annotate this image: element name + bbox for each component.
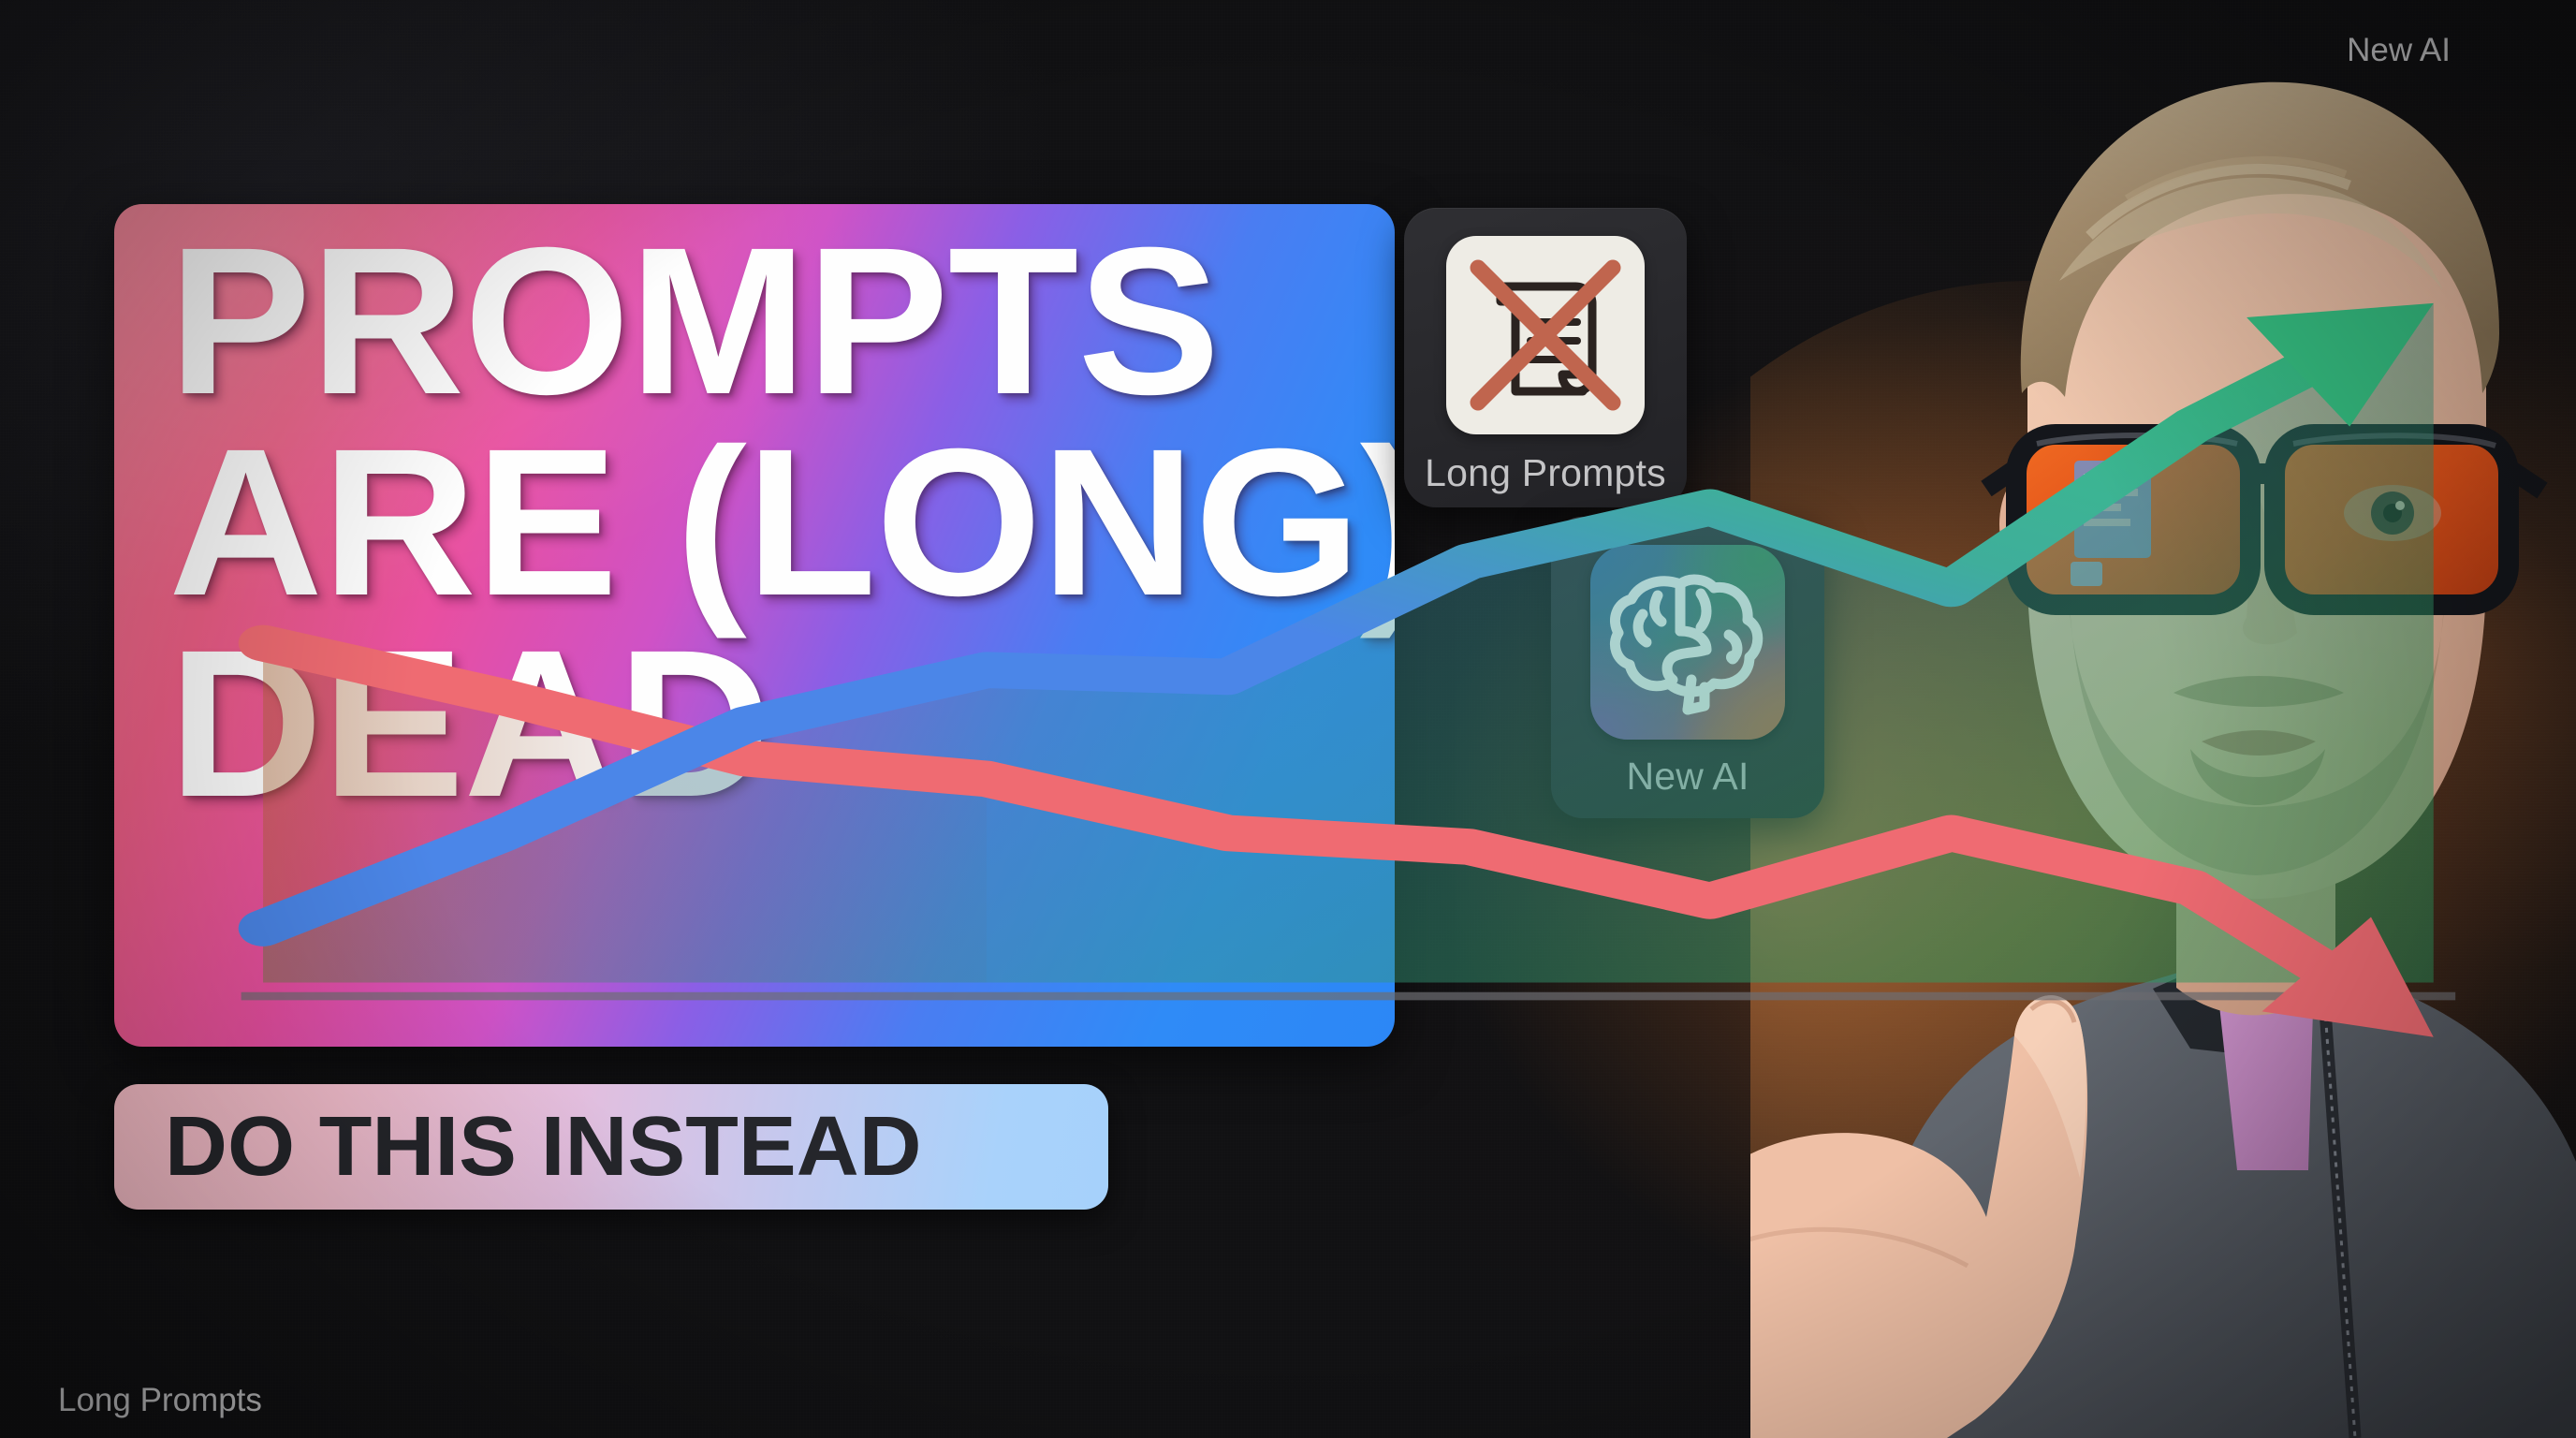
thumbnail-canvas: PROMPTS ARE (LONG) DEAD DO THIS INSTEAD (0, 0, 2576, 1438)
tile-chart[interactable]: New AI Long Prompts (0, 0, 440, 335)
